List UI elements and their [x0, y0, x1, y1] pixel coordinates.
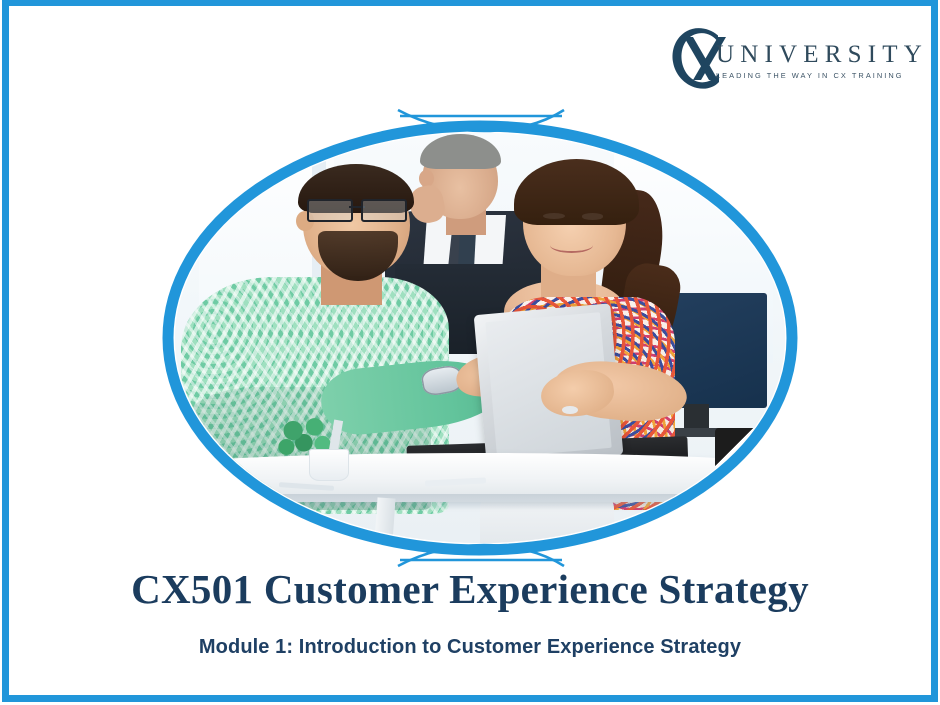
logo-name: UNIVERSITY — [716, 42, 922, 67]
hero-ellipse-ring — [150, 108, 810, 568]
slide-title: CX501 Customer Experience Strategy — [0, 568, 940, 611]
slide-subtitle: Module 1: Introduction to Customer Exper… — [0, 636, 940, 659]
logo-tagline: LEADING THE WAY IN CX TRAINING — [716, 72, 922, 79]
logo-wordmark: UNIVERSITY LEADING THE WAY IN CX TRAININ… — [716, 42, 922, 79]
cx-university-logo[interactable]: UNIVERSITY LEADING THE WAY IN CX TRAININ… — [660, 22, 918, 94]
title-slide: UNIVERSITY LEADING THE WAY IN CX TRAININ… — [0, 0, 940, 705]
hero-image-block — [150, 108, 810, 568]
